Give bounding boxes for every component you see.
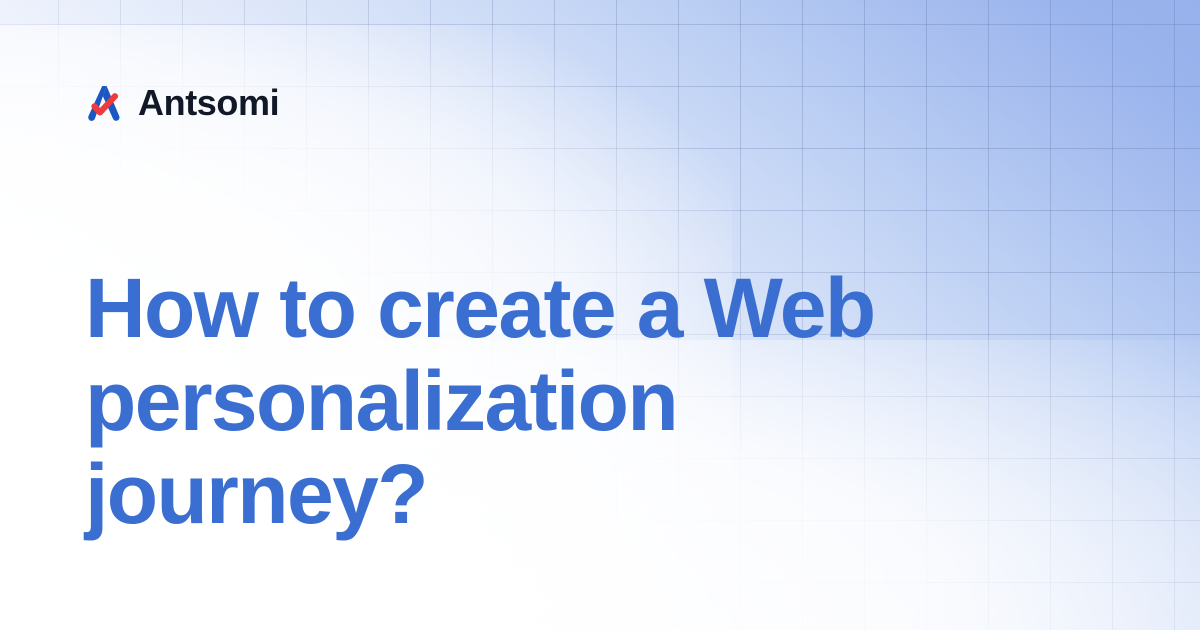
- headline-line-1: How to create a Web: [85, 262, 1085, 355]
- headline-line-3: journey?: [85, 448, 1085, 541]
- antsomi-a-check-logo-icon: [85, 83, 123, 123]
- card-content: Antsomi How to create a Web personalizat…: [0, 0, 1200, 630]
- headline-line-2: personalization: [85, 355, 1085, 448]
- social-share-card: Antsomi How to create a Web personalizat…: [0, 0, 1200, 630]
- brand-name: Antsomi: [138, 85, 279, 121]
- brand-lockup: Antsomi: [85, 78, 279, 128]
- headline: How to create a Web personalization jour…: [85, 262, 1085, 541]
